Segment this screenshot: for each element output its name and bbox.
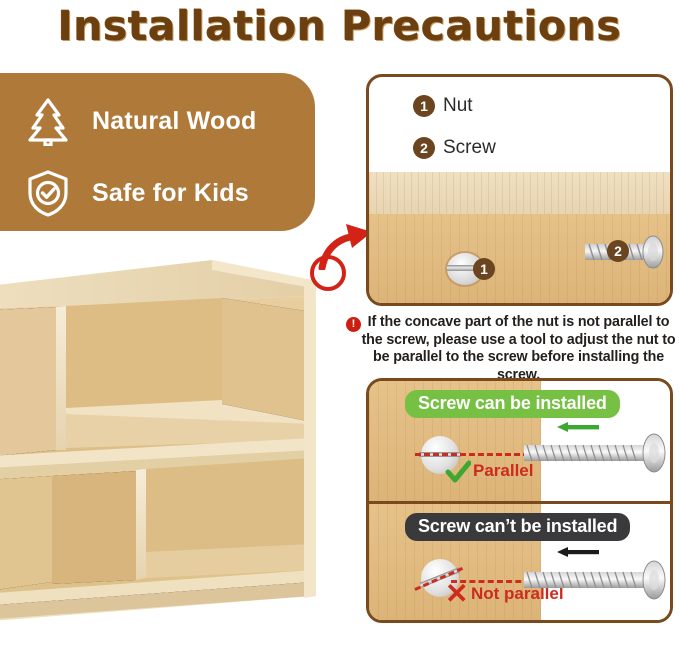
wood-board-top-edge: [369, 172, 670, 214]
infographic-root: Installation Precautions Natural Wood Sa…: [0, 0, 679, 647]
feature-item-natural-wood: Natural Wood: [24, 89, 315, 153]
number-badge-2: 2: [413, 137, 435, 159]
wood-post: [543, 77, 585, 303]
screw-alignment-comparison-panel: Screw can be installed Parallel: [366, 378, 673, 623]
cross-icon: ✕: [445, 582, 469, 606]
screw-illustration-parallel: [524, 431, 670, 477]
parts-legend: 1 Nut 2 Screw: [413, 91, 496, 163]
wooden-storage-shelf-photo: [0, 252, 334, 630]
page-title: Installation Precautions: [0, 2, 679, 50]
comparison-row-parallel: Screw can be installed Parallel: [369, 381, 670, 501]
status-banner-can-install: Screw can be installed: [405, 390, 620, 418]
legend-label: Screw: [443, 137, 496, 159]
tree-icon: [24, 96, 72, 146]
screw-illustration: [585, 229, 673, 275]
shield-check-icon: [24, 168, 72, 218]
legend-item-screw: 2 Screw: [413, 133, 496, 163]
check-icon: [445, 459, 471, 485]
alert-exclamation-icon: !: [346, 317, 361, 332]
feature-label: Natural Wood: [92, 107, 256, 136]
warning-text: If the concave part of the nut is not pa…: [346, 314, 679, 384]
legend-item-nut: 1 Nut: [413, 91, 496, 121]
feature-item-safe-for-kids: Safe for Kids: [24, 161, 315, 225]
warning-note: ! If the concave part of the nut is not …: [346, 314, 679, 384]
nut-screw-detail-panel: 1 Nut 2 Screw 1: [366, 74, 673, 306]
status-banner-cannot-install: Screw can’t be installed: [405, 513, 630, 541]
feature-badge-card: Natural Wood Safe for Kids: [0, 73, 315, 231]
number-badge-2-callout: 2: [607, 240, 629, 262]
screw-illustration-not-parallel: [524, 558, 670, 604]
comparison-row-not-parallel: Screw can’t be installed ✕ Not parallel: [369, 501, 670, 621]
number-badge-1: 1: [413, 95, 435, 117]
legend-label: Nut: [443, 95, 473, 117]
number-badge-1-callout: 1: [473, 258, 495, 280]
feature-label: Safe for Kids: [92, 179, 249, 208]
